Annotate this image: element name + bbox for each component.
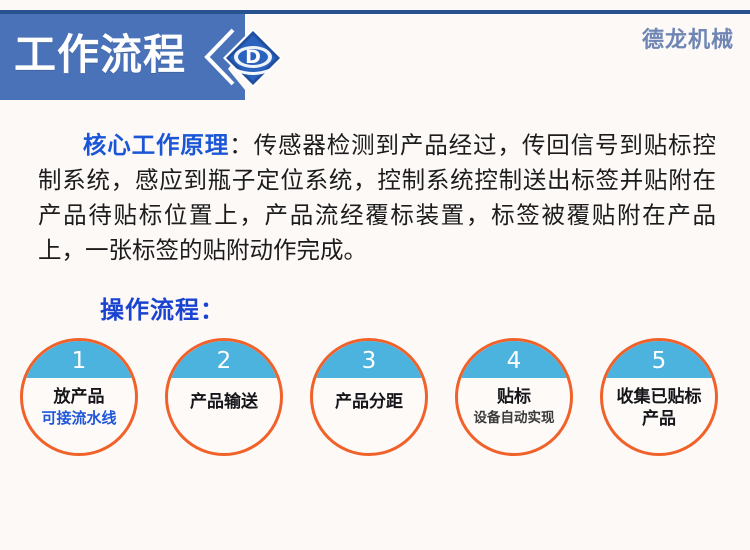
step-title: 贴标 [497,386,531,408]
slide-canvas: 工作流程 D 德龙机械 核心工作原理：传感器检测到产品经过，传回信号到贴标控制系… [0,0,750,550]
step-subtitle: 产品 [642,408,676,430]
step-body: 产品分距 [313,378,425,453]
flow-step-4[interactable]: 4 贴标 设备自动实现 [455,338,573,456]
svg-text:D: D [245,46,261,68]
flow-step-1[interactable]: 1 放产品 可接流水线 [20,338,138,456]
flow-step-5[interactable]: 5 收集已贴标 产品 [600,338,718,456]
principle-lead: 核心工作原理 [82,131,229,159]
principle-colon: ： [229,131,253,159]
step-title: 产品分距 [335,391,403,413]
diamond-d-logo-icon: D [222,27,284,89]
step-number: 4 [507,341,522,378]
step-title: 产品输送 [190,391,258,413]
page-title: 工作流程 [14,22,186,88]
step-body: 收集已贴标 产品 [603,378,715,453]
step-number-cap: 5 [603,341,715,378]
step-number-cap: 1 [23,341,135,378]
step-body: 贴标 设备自动实现 [458,378,570,453]
flow-diagram: 1 放产品 可接流水线 2 产品输送 3 产品分距 [0,338,750,464]
step-body: 产品输送 [168,378,280,453]
step-body: 放产品 可接流水线 [23,378,135,453]
top-rule-divider [0,10,750,14]
step-number-cap: 4 [458,341,570,378]
flow-heading: 操作流程： [100,290,225,325]
step-subtitle: 可接流水线 [41,408,116,429]
step-subtitle: 设备自动实现 [474,408,555,429]
principle-paragraph: 核心工作原理：传感器检测到产品经过，传回信号到贴标控制系统，感应到瓶子定位系统，… [38,128,716,268]
step-number: 3 [362,341,377,378]
flow-step-3[interactable]: 3 产品分距 [310,338,428,456]
step-number-cap: 3 [313,341,425,378]
step-title: 放产品 [54,386,105,408]
step-number: 5 [652,341,667,378]
step-number-cap: 2 [168,341,280,378]
step-title: 收集已贴标 [617,386,702,408]
flow-step-2[interactable]: 2 产品输送 [165,338,283,456]
brand-name: 德龙机械 [642,22,734,54]
step-number: 2 [217,341,232,378]
step-number: 1 [72,341,87,378]
